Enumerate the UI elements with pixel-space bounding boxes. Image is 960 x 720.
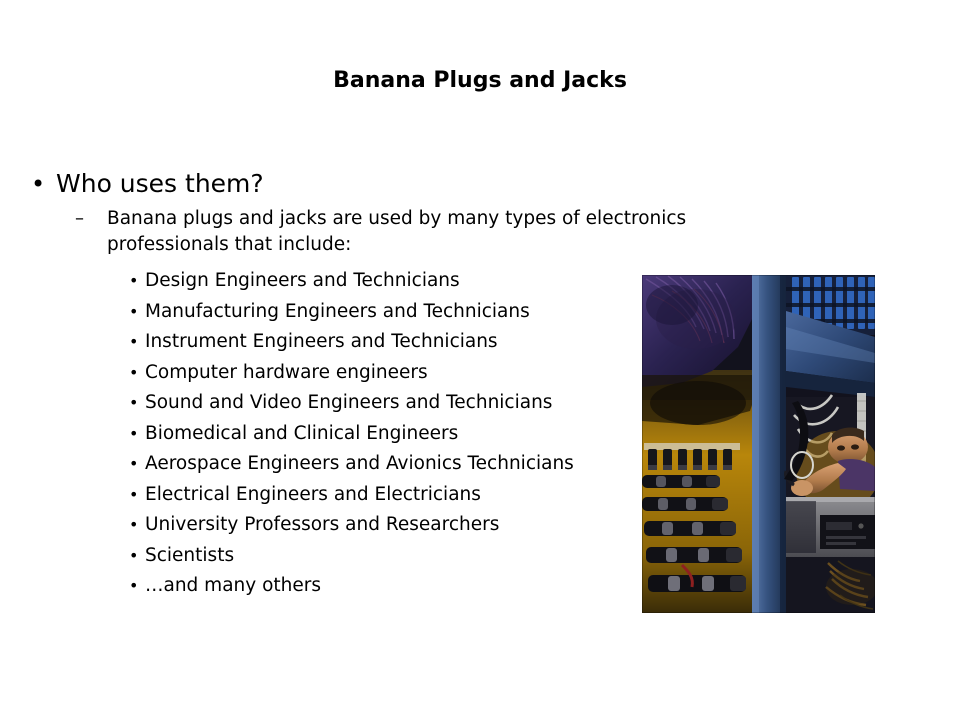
bullet-dot-icon: • xyxy=(129,510,138,541)
bullet-dot-icon: • xyxy=(129,266,138,297)
photo-artwork xyxy=(642,275,875,613)
bullet-dot-icon: • xyxy=(129,419,138,450)
bullet-dot-icon: • xyxy=(129,571,138,602)
bullet-dash-icon: – xyxy=(75,206,84,232)
bullet-level2-label: Banana plugs and jacks are used by many … xyxy=(107,206,797,258)
bullet-dot-icon: • xyxy=(129,327,138,358)
bullet-dot-icon: • xyxy=(129,449,138,480)
bullet-level1-label: Who uses them? xyxy=(56,168,960,200)
bullet-dot-icon: • xyxy=(129,358,138,389)
bullet-dot-icon: • xyxy=(129,541,138,572)
bullet-level2: – Banana plugs and jacks are used by man… xyxy=(0,206,960,258)
equipment-rack-photo xyxy=(642,275,875,613)
bullet-dot-icon: • xyxy=(31,168,45,200)
bullet-dot-icon: • xyxy=(129,297,138,328)
bullet-dot-icon: • xyxy=(129,480,138,511)
bullet-level1: • Who uses them? xyxy=(0,168,960,200)
bullet-dot-icon: • xyxy=(129,388,138,419)
page-title: Banana Plugs and Jacks xyxy=(0,67,960,95)
slide-canvas: Banana Plugs and Jacks • Who uses them? … xyxy=(0,0,960,720)
